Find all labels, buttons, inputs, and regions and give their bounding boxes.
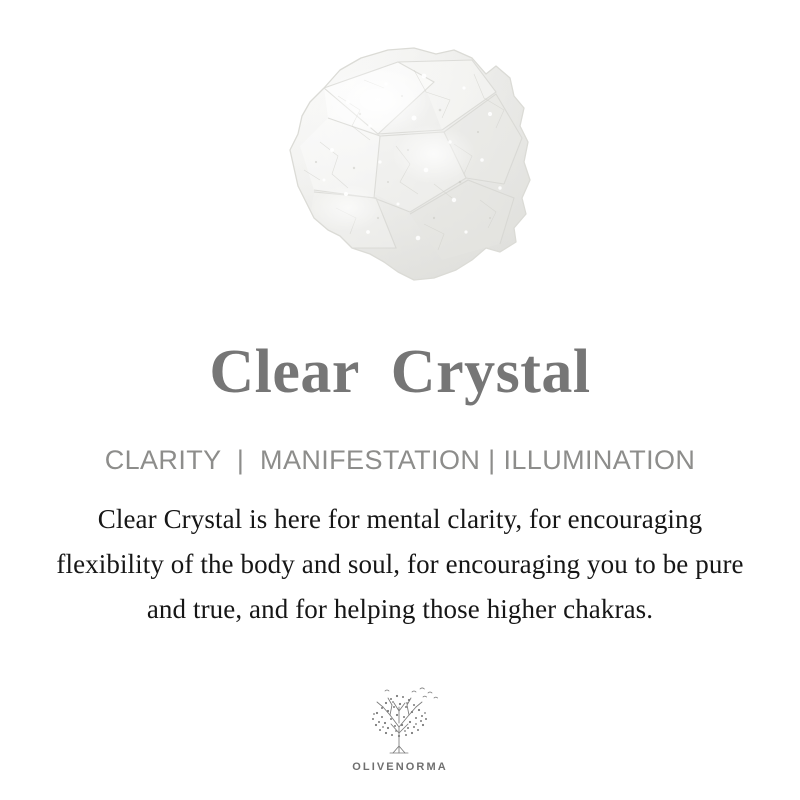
brand-logo: OLIVENORMA [0, 683, 800, 773]
product-image-area [0, 0, 800, 320]
tree-with-birds-icon [352, 683, 448, 759]
product-keywords: CLARITY | MANIFESTATION | ILLUMINATION [0, 443, 800, 477]
page-title: Clear Crystal [0, 336, 800, 408]
product-description: Clear Crystal is here for mental clarity… [50, 497, 750, 632]
brand-wordmark: OLIVENORMA [352, 761, 448, 773]
clear-crystal-image [228, 22, 558, 312]
product-info-card: Clear Crystal CLARITY | MANIFESTATION | … [0, 0, 800, 800]
